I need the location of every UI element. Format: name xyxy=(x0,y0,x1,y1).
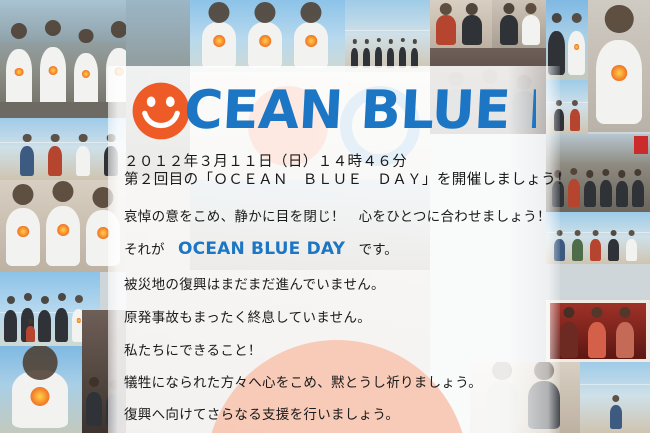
ocean-blue-day-wordmark: CEAN BLUE DAY xyxy=(186,76,536,142)
body-line-5: 私たちにできること！ xyxy=(124,339,262,359)
body-line-7: 復興へ向けてさらなる支援を行いましょう。 xyxy=(124,403,399,423)
photo-surfers-waves xyxy=(580,362,650,433)
ocean-blue-day-highlight: OCEAN BLUE DAY xyxy=(178,239,345,259)
ocean-blue-day-logo: CEAN BLUE DAY xyxy=(132,80,532,142)
body-line-2: それが OCEAN BLUE DAY です。 xyxy=(124,238,398,259)
body-line-3: 被災地の復興はまだまだ進んでいません。 xyxy=(124,273,385,293)
photo-three-men-tshirts xyxy=(190,0,345,72)
photo-volunteers-documents xyxy=(430,0,492,48)
body-line-1: 哀悼の意をこめ、静かに目を閉じ！ 心をひとつに合わせましょう！ xyxy=(124,205,551,225)
ocean-blue-day-poster: CEAN BLUE DAY ２０１２年３月１１日（日）１４時４６分 第２回目の「… xyxy=(0,0,650,433)
photo-red-surf-shop xyxy=(546,300,650,362)
body-line-6: 犠牲になられた方々へ心をこめ、黙とうし祈りましょう。 xyxy=(124,371,482,391)
body-line-4: 原発事故もまったく終息していません。 xyxy=(124,306,371,326)
body-line-2-prefix: それが xyxy=(124,242,178,258)
photo-school-buses xyxy=(546,212,650,264)
body-line-2-suffix: です。 xyxy=(345,242,398,258)
photo-beach-line-of-people xyxy=(345,0,430,72)
event-subtitle-line: 第２回目の「ＯＣＥＡＮ ＢＬＵＥ ＤＡＹ」を開催しましょう！ xyxy=(124,168,571,189)
photo-portrait-man-logo-tee xyxy=(588,0,650,132)
photo-indoor-meeting xyxy=(492,0,546,48)
orange-smiley-face-icon xyxy=(132,82,190,140)
photo-man-sunglasses xyxy=(0,346,82,433)
svg-text:CEAN BLUE DAY: CEAN BLUE DAY xyxy=(186,79,536,141)
